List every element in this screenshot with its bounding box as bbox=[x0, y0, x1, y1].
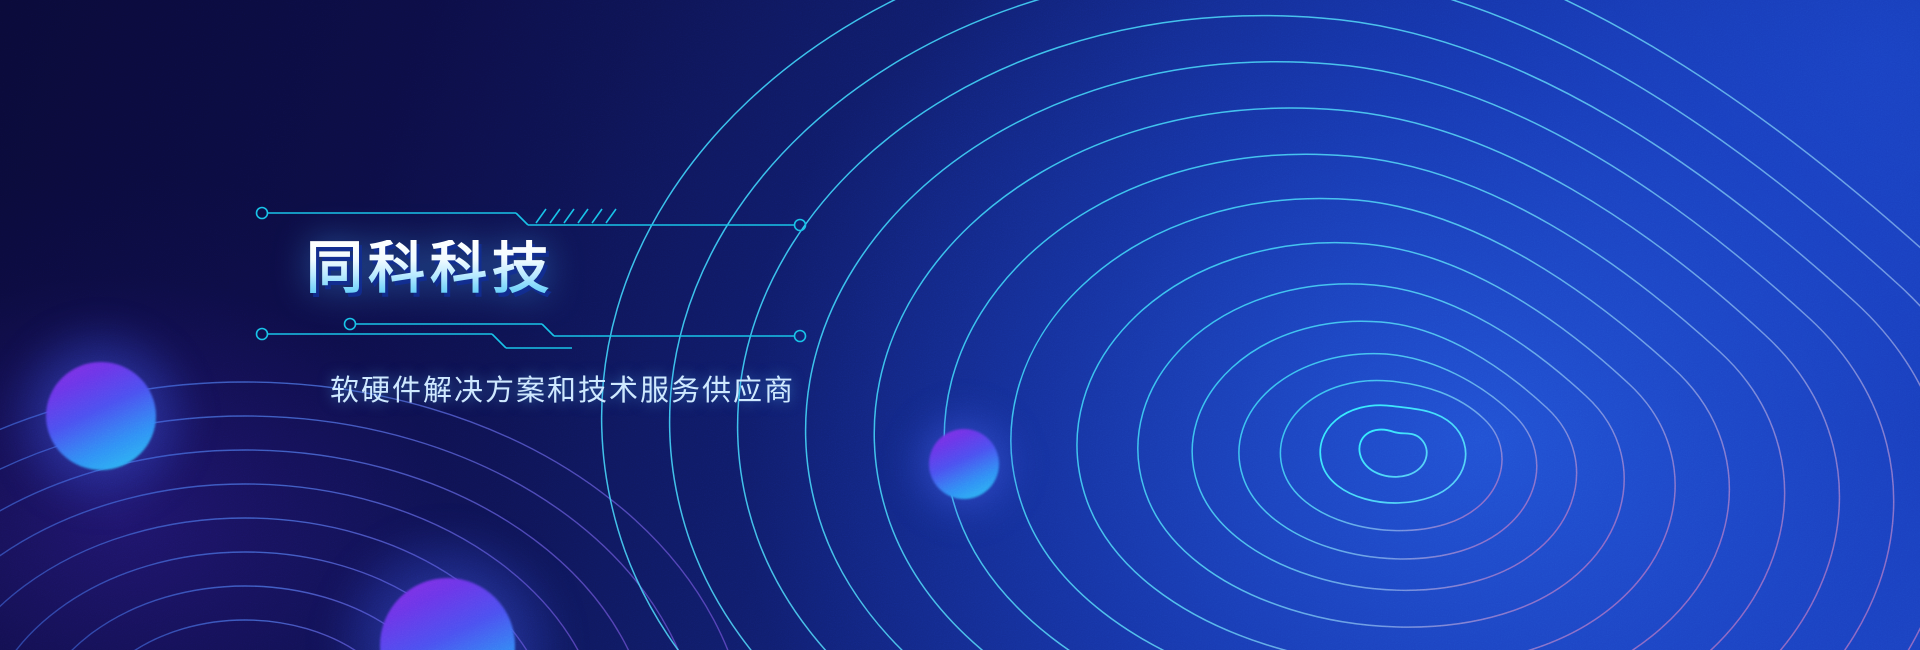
page-title: 同科科技 bbox=[306, 240, 554, 297]
orb-core bbox=[929, 429, 999, 499]
orb-core bbox=[46, 362, 156, 470]
hero-banner: 01110101010101010 01101010101010101 bbox=[0, 0, 1920, 650]
glow-orb-center bbox=[929, 429, 999, 499]
glow-orb-bottom-left bbox=[380, 578, 515, 650]
glow-orb-left bbox=[46, 362, 156, 470]
page-subtitle: 软硬件解决方案和技术服务供应商 bbox=[330, 367, 795, 409]
binary-line-1: 01110101010101010 bbox=[714, 644, 1146, 650]
binary-decoration: 01110101010101010 01101010101010101 bbox=[714, 556, 1146, 650]
circuit-line-bottom bbox=[254, 312, 874, 356]
circuit-line-top bbox=[254, 198, 874, 238]
